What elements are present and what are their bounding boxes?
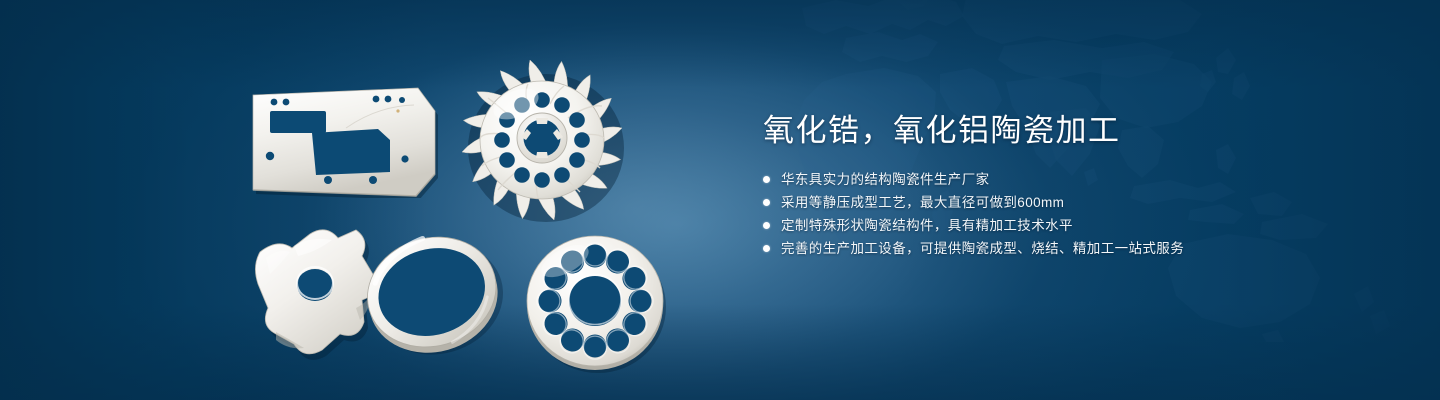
bullet-dot-icon [763,222,770,229]
banner-headline: 氧化锆，氧化铝陶瓷加工 [763,112,1383,150]
hero-banner: 氧化锆，氧化铝陶瓷加工 华东具实力的结构陶瓷件生产厂家 采用等静压成型工艺，最大… [0,0,1440,400]
ceramic-plate-image [250,78,440,198]
feature-bullet-text: 完善的生产加工设备，可提供陶瓷成型、烧结、精加工一站式服务 [781,241,1184,256]
feature-bullet-list: 华东具实力的结构陶瓷件生产厂家 采用等静压成型工艺，最大直径可做到600mm 定… [763,172,1383,256]
product-photo-group [0,0,760,400]
ceramic-perforated-disc-image [522,228,668,374]
feature-bullet-item: 完善的生产加工设备，可提供陶瓷成型、烧结、精加工一站式服务 [763,241,1383,256]
feature-bullet-text: 采用等静压成型工艺，最大直径可做到600mm [781,195,1064,210]
feature-bullet-item: 定制特殊形状陶瓷结构件，具有精加工技术水平 [763,218,1383,233]
ceramic-impeller-image [452,48,632,228]
feature-bullet-item: 采用等静压成型工艺，最大直径可做到600mm [763,195,1383,210]
bullet-dot-icon [763,245,770,252]
bullet-dot-icon [763,176,770,183]
ceramic-ring-image [352,228,512,358]
banner-text-block: 氧化锆，氧化铝陶瓷加工 华东具实力的结构陶瓷件生产厂家 采用等静压成型工艺，最大… [763,112,1383,264]
feature-bullet-text: 定制特殊形状陶瓷结构件，具有精加工技术水平 [781,218,1073,233]
feature-bullet-item: 华东具实力的结构陶瓷件生产厂家 [763,172,1383,187]
feature-bullet-text: 华东具实力的结构陶瓷件生产厂家 [781,172,990,187]
bullet-dot-icon [763,199,770,206]
